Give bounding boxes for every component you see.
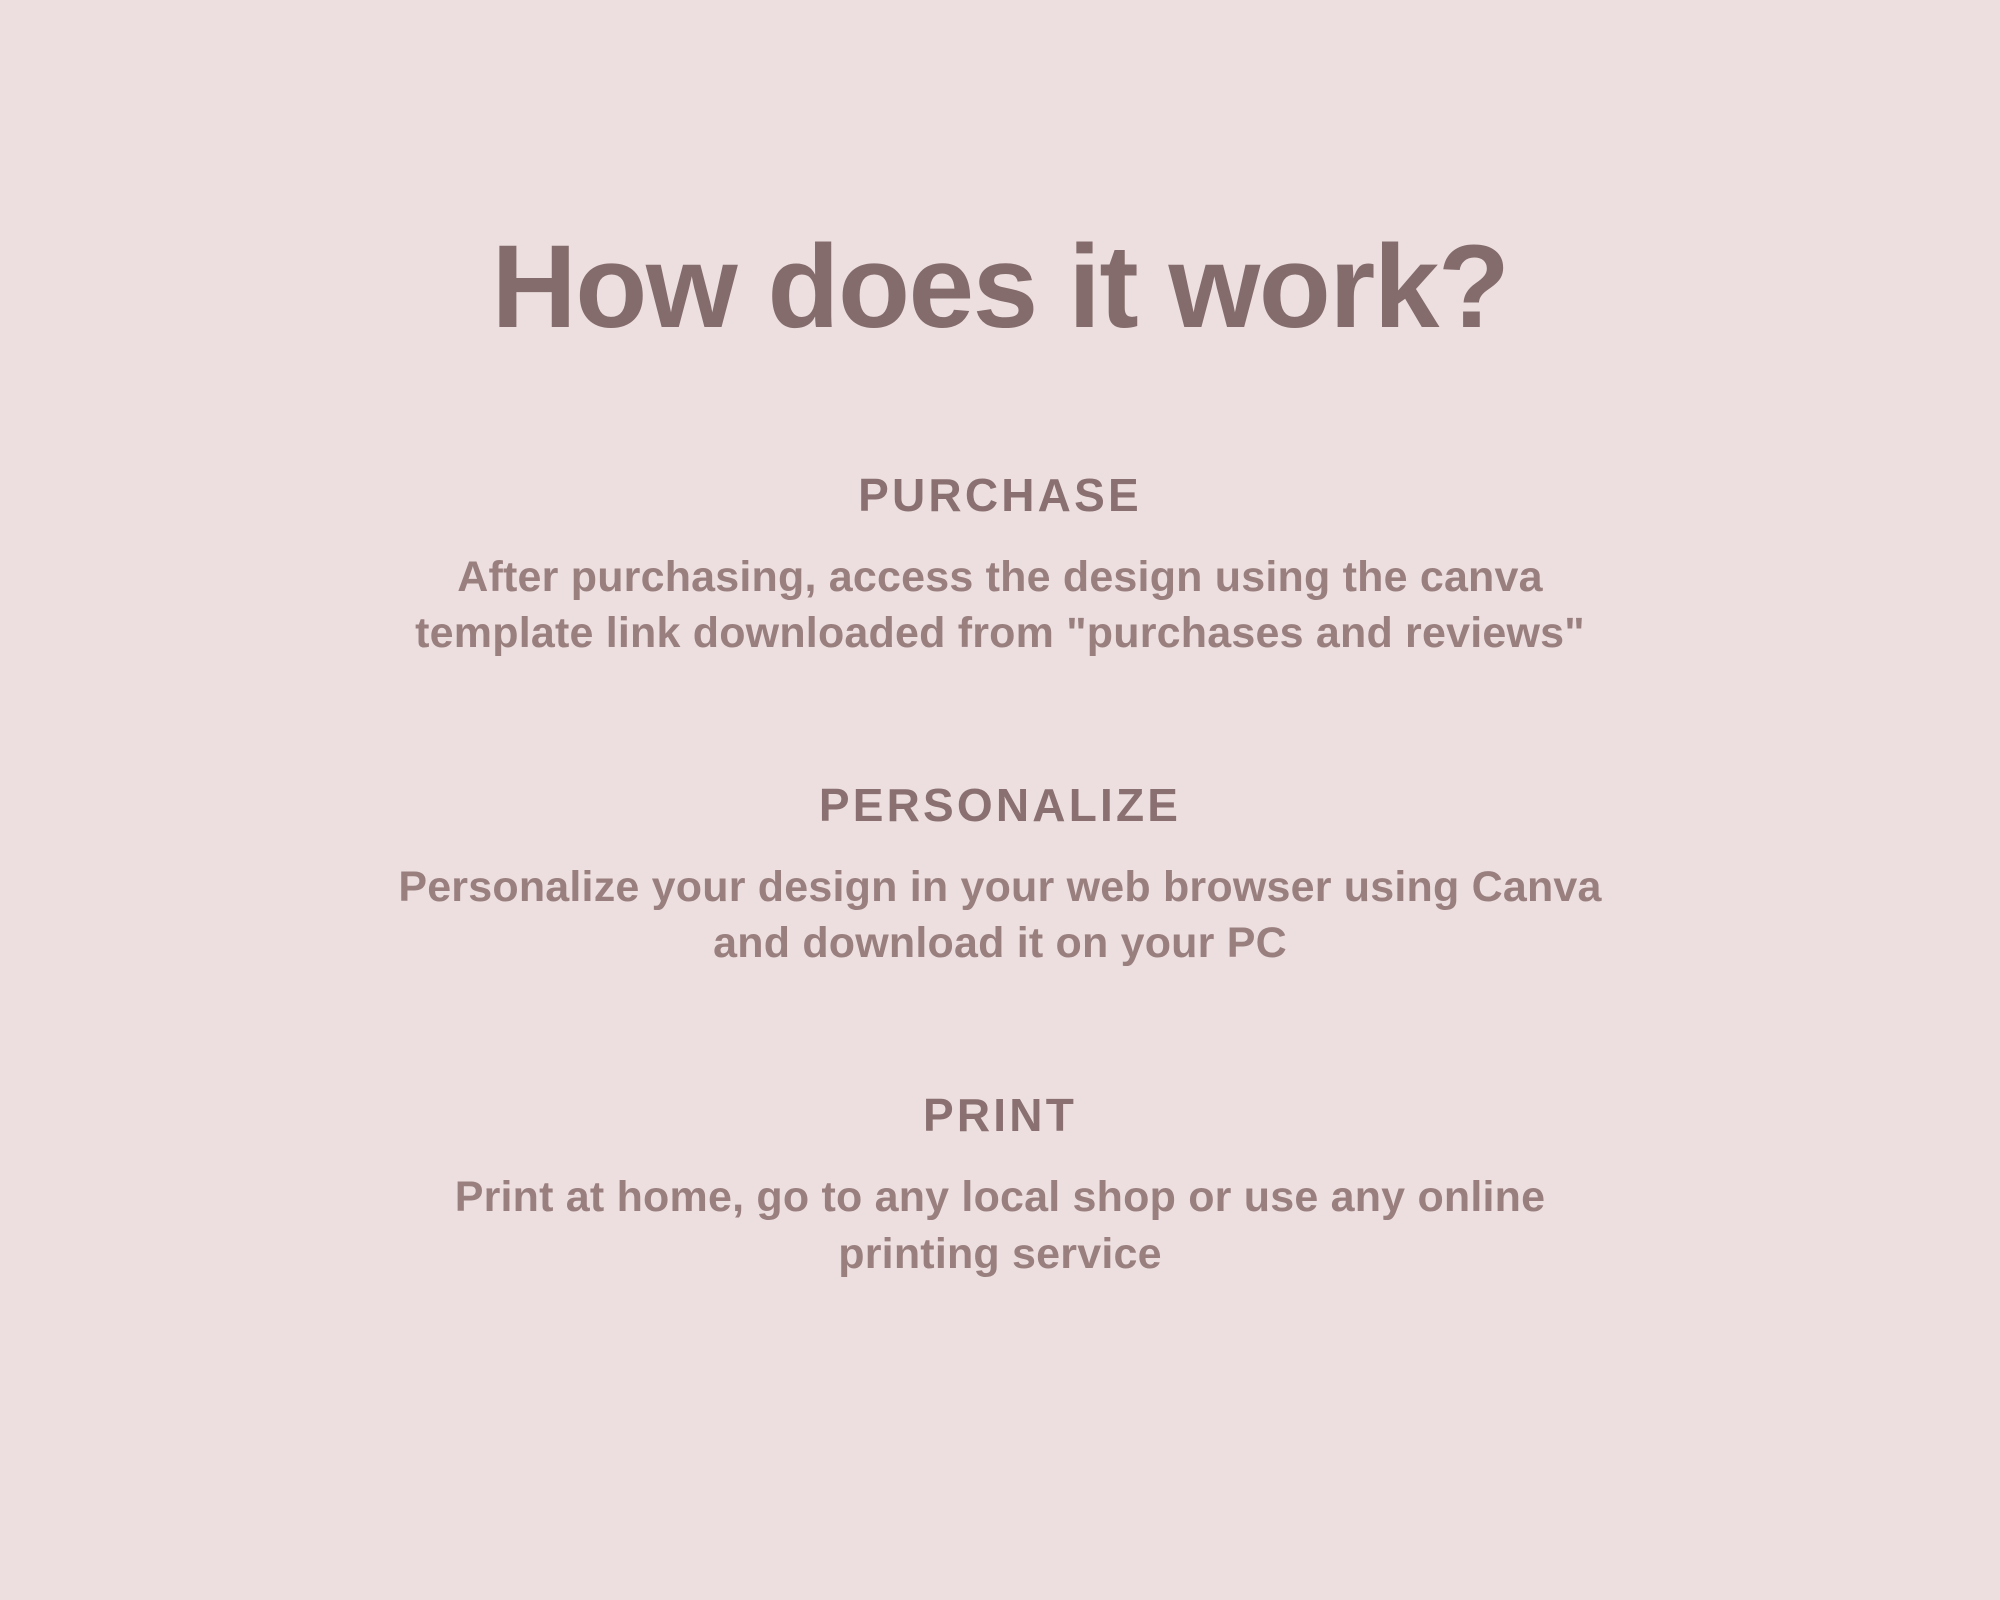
step-purchase-line-1: After purchasing, access the design usin… [180, 549, 1820, 606]
step-purchase-description: After purchasing, access the design usin… [180, 549, 1820, 663]
step-print: PRINT Print at home, go to any local sho… [0, 1090, 2000, 1282]
step-personalize: PERSONALIZE Personalize your design in y… [0, 780, 2000, 972]
step-personalize-line-2: and download it on your PC [180, 915, 1820, 972]
step-personalize-line-1: Personalize your design in your web brow… [180, 859, 1820, 916]
step-print-line-1: Print at home, go to any local shop or u… [180, 1169, 1820, 1226]
step-print-description: Print at home, go to any local shop or u… [180, 1169, 1820, 1283]
step-personalize-heading: PERSONALIZE [0, 780, 2000, 831]
how-it-works-poster: How does it work? PURCHASE After purchas… [0, 0, 2000, 1600]
step-purchase-heading: PURCHASE [0, 470, 2000, 521]
step-print-line-2: printing service [180, 1226, 1820, 1283]
step-print-heading: PRINT [0, 1090, 2000, 1141]
step-personalize-description: Personalize your design in your web brow… [180, 859, 1820, 973]
steps-list: PURCHASE After purchasing, access the de… [0, 470, 2000, 1282]
page-title: How does it work? [0, 227, 2000, 347]
step-purchase-line-2: template link downloaded from "purchases… [180, 605, 1820, 662]
step-purchase: PURCHASE After purchasing, access the de… [0, 470, 2000, 662]
